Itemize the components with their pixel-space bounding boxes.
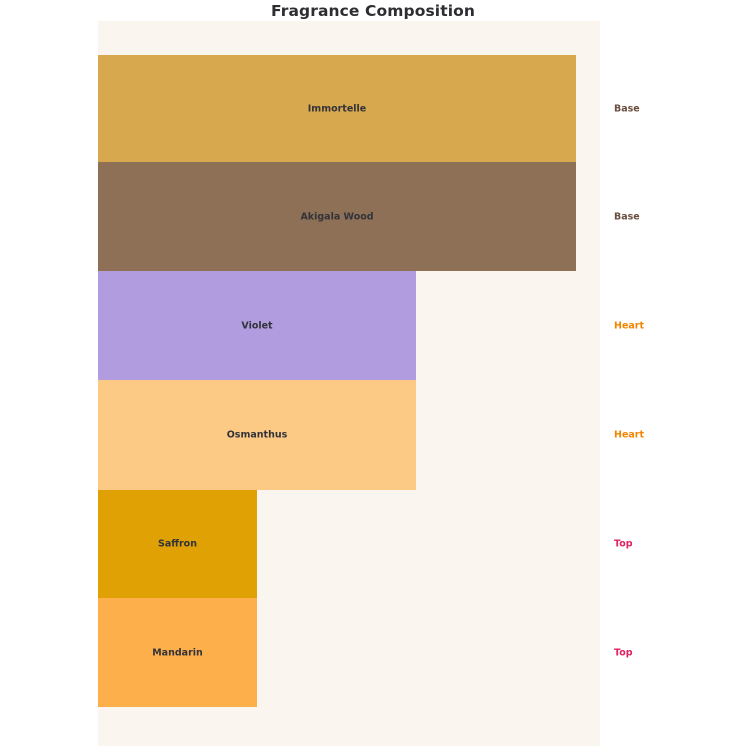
bar-row: Osmanthus [98, 380, 600, 490]
bar-mandarin[interactable] [98, 598, 257, 707]
bar-row: Mandarin [98, 598, 600, 707]
bar-violet[interactable] [98, 271, 416, 380]
bar-akigala-wood[interactable] [98, 162, 576, 271]
note-category-label: Base [614, 211, 640, 222]
bar-osmanthus[interactable] [98, 380, 416, 490]
chart-title: Fragrance Composition [0, 2, 746, 20]
bar-row: Akigala Wood [98, 162, 600, 271]
bar-row: Immortelle [98, 55, 600, 162]
bar-immortelle[interactable] [98, 55, 576, 162]
note-category-label: Heart [614, 430, 644, 441]
note-category-label: Top [614, 647, 633, 658]
bar-saffron[interactable] [98, 490, 257, 598]
note-category-label: Heart [614, 320, 644, 331]
note-category-label: Top [614, 539, 633, 550]
note-category-label: Base [614, 103, 640, 114]
bar-row: Violet [98, 271, 600, 380]
fragrance-composition-chart: Fragrance Composition ImmortelleAkigala … [0, 0, 746, 746]
bar-row: Saffron [98, 490, 600, 598]
